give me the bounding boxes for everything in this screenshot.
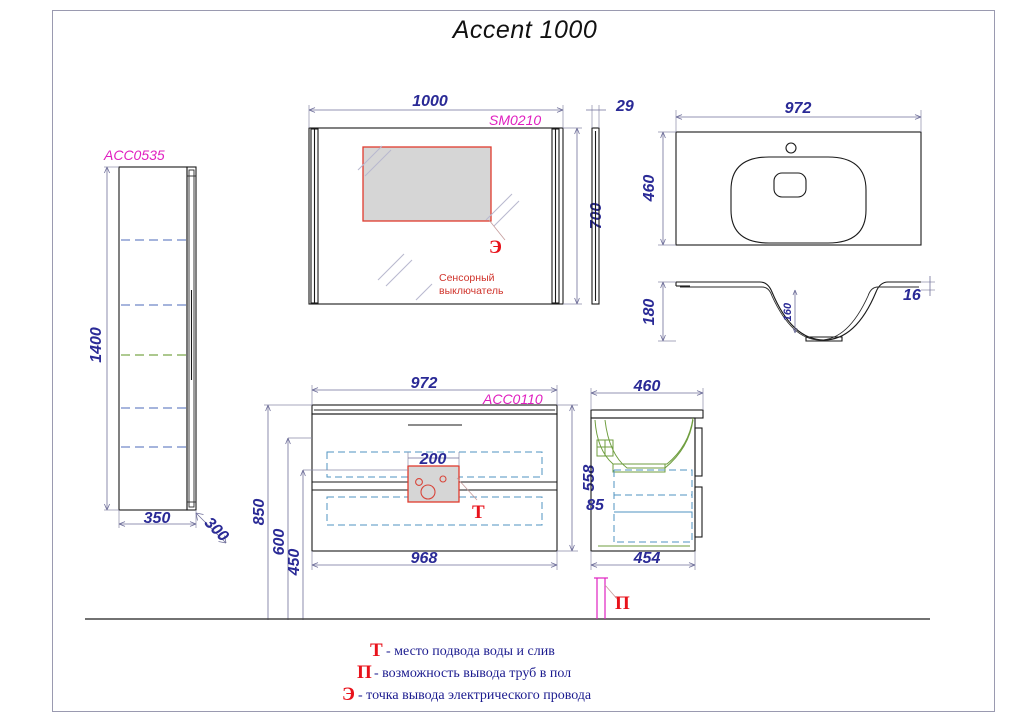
water-supply-marker: Т [472, 502, 485, 523]
mirror-code: SM0210 [489, 112, 541, 128]
washbasin-bowl-depth-dim: 160 [782, 302, 794, 321]
technical-drawing-canvas: ACC0535 1400 350 300 SM0210 Э [0, 0, 1024, 723]
utility-box-width-dim: 200 [419, 451, 447, 468]
vanity-mount-low-dim: 450 [286, 549, 303, 577]
mirror-width-dim: 1000 [412, 93, 448, 110]
mirror-electric-marker: Э [489, 237, 502, 258]
vanity-front-view [312, 385, 578, 570]
mirror-note-line2: выключатель [439, 285, 504, 297]
vanity-code: ACC0110 [482, 391, 543, 407]
tall-cabinet-code: ACC0535 [103, 147, 165, 163]
legend: Т - место подвода воды и слив П - возмож… [342, 640, 592, 705]
mirror-height-dim: 700 [588, 203, 605, 230]
vanity-top-width-dim: 972 [411, 375, 438, 392]
mirror-note-line1: Сенсорный [439, 272, 495, 284]
washbasin-width-dim: 972 [785, 100, 812, 117]
legend-text-1: - возможность вывода труб в пол [374, 666, 571, 681]
vanity-mount-total-dim: 850 [251, 499, 268, 526]
vanity-side-top-depth-dim: 460 [633, 378, 661, 395]
floor-pipe-marker: П [615, 593, 630, 614]
washbasin-section-height-dim: 180 [641, 299, 658, 326]
mirror-front-view [309, 128, 563, 304]
vanity-side-view [591, 388, 703, 570]
washbasin-rim-dim: 16 [903, 287, 921, 304]
legend-text-2: - точка вывода электрического провода [358, 688, 592, 703]
vanity-side-inner-dim: 85 [586, 497, 605, 514]
tall-cabinet-height-dim: 1400 [88, 327, 105, 363]
washbasin-top-view [658, 110, 921, 245]
tall-cabinet-view [104, 167, 226, 543]
washbasin-depth-dim: 460 [641, 175, 658, 203]
drawing-sheet: Accent 1000 [0, 0, 1024, 723]
tall-cabinet-depth-dim: 300 [201, 514, 232, 545]
legend-text-0: - место подвода воды и слив [386, 644, 555, 659]
tall-cabinet-width-dim: 350 [144, 510, 171, 527]
vanity-side-bottom-depth-dim: 454 [633, 550, 661, 567]
mirror-thickness-dim: 29 [615, 98, 634, 115]
legend-symbol-1: П [357, 662, 372, 683]
washbasin-section-view [658, 276, 935, 341]
vanity-bottom-width-dim: 968 [411, 550, 438, 567]
vanity-height-dim: 558 [581, 465, 598, 492]
vanity-mounting-heights [264, 405, 408, 620]
legend-symbol-2: Э [342, 684, 355, 705]
legend-symbol-0: Т [370, 640, 383, 661]
